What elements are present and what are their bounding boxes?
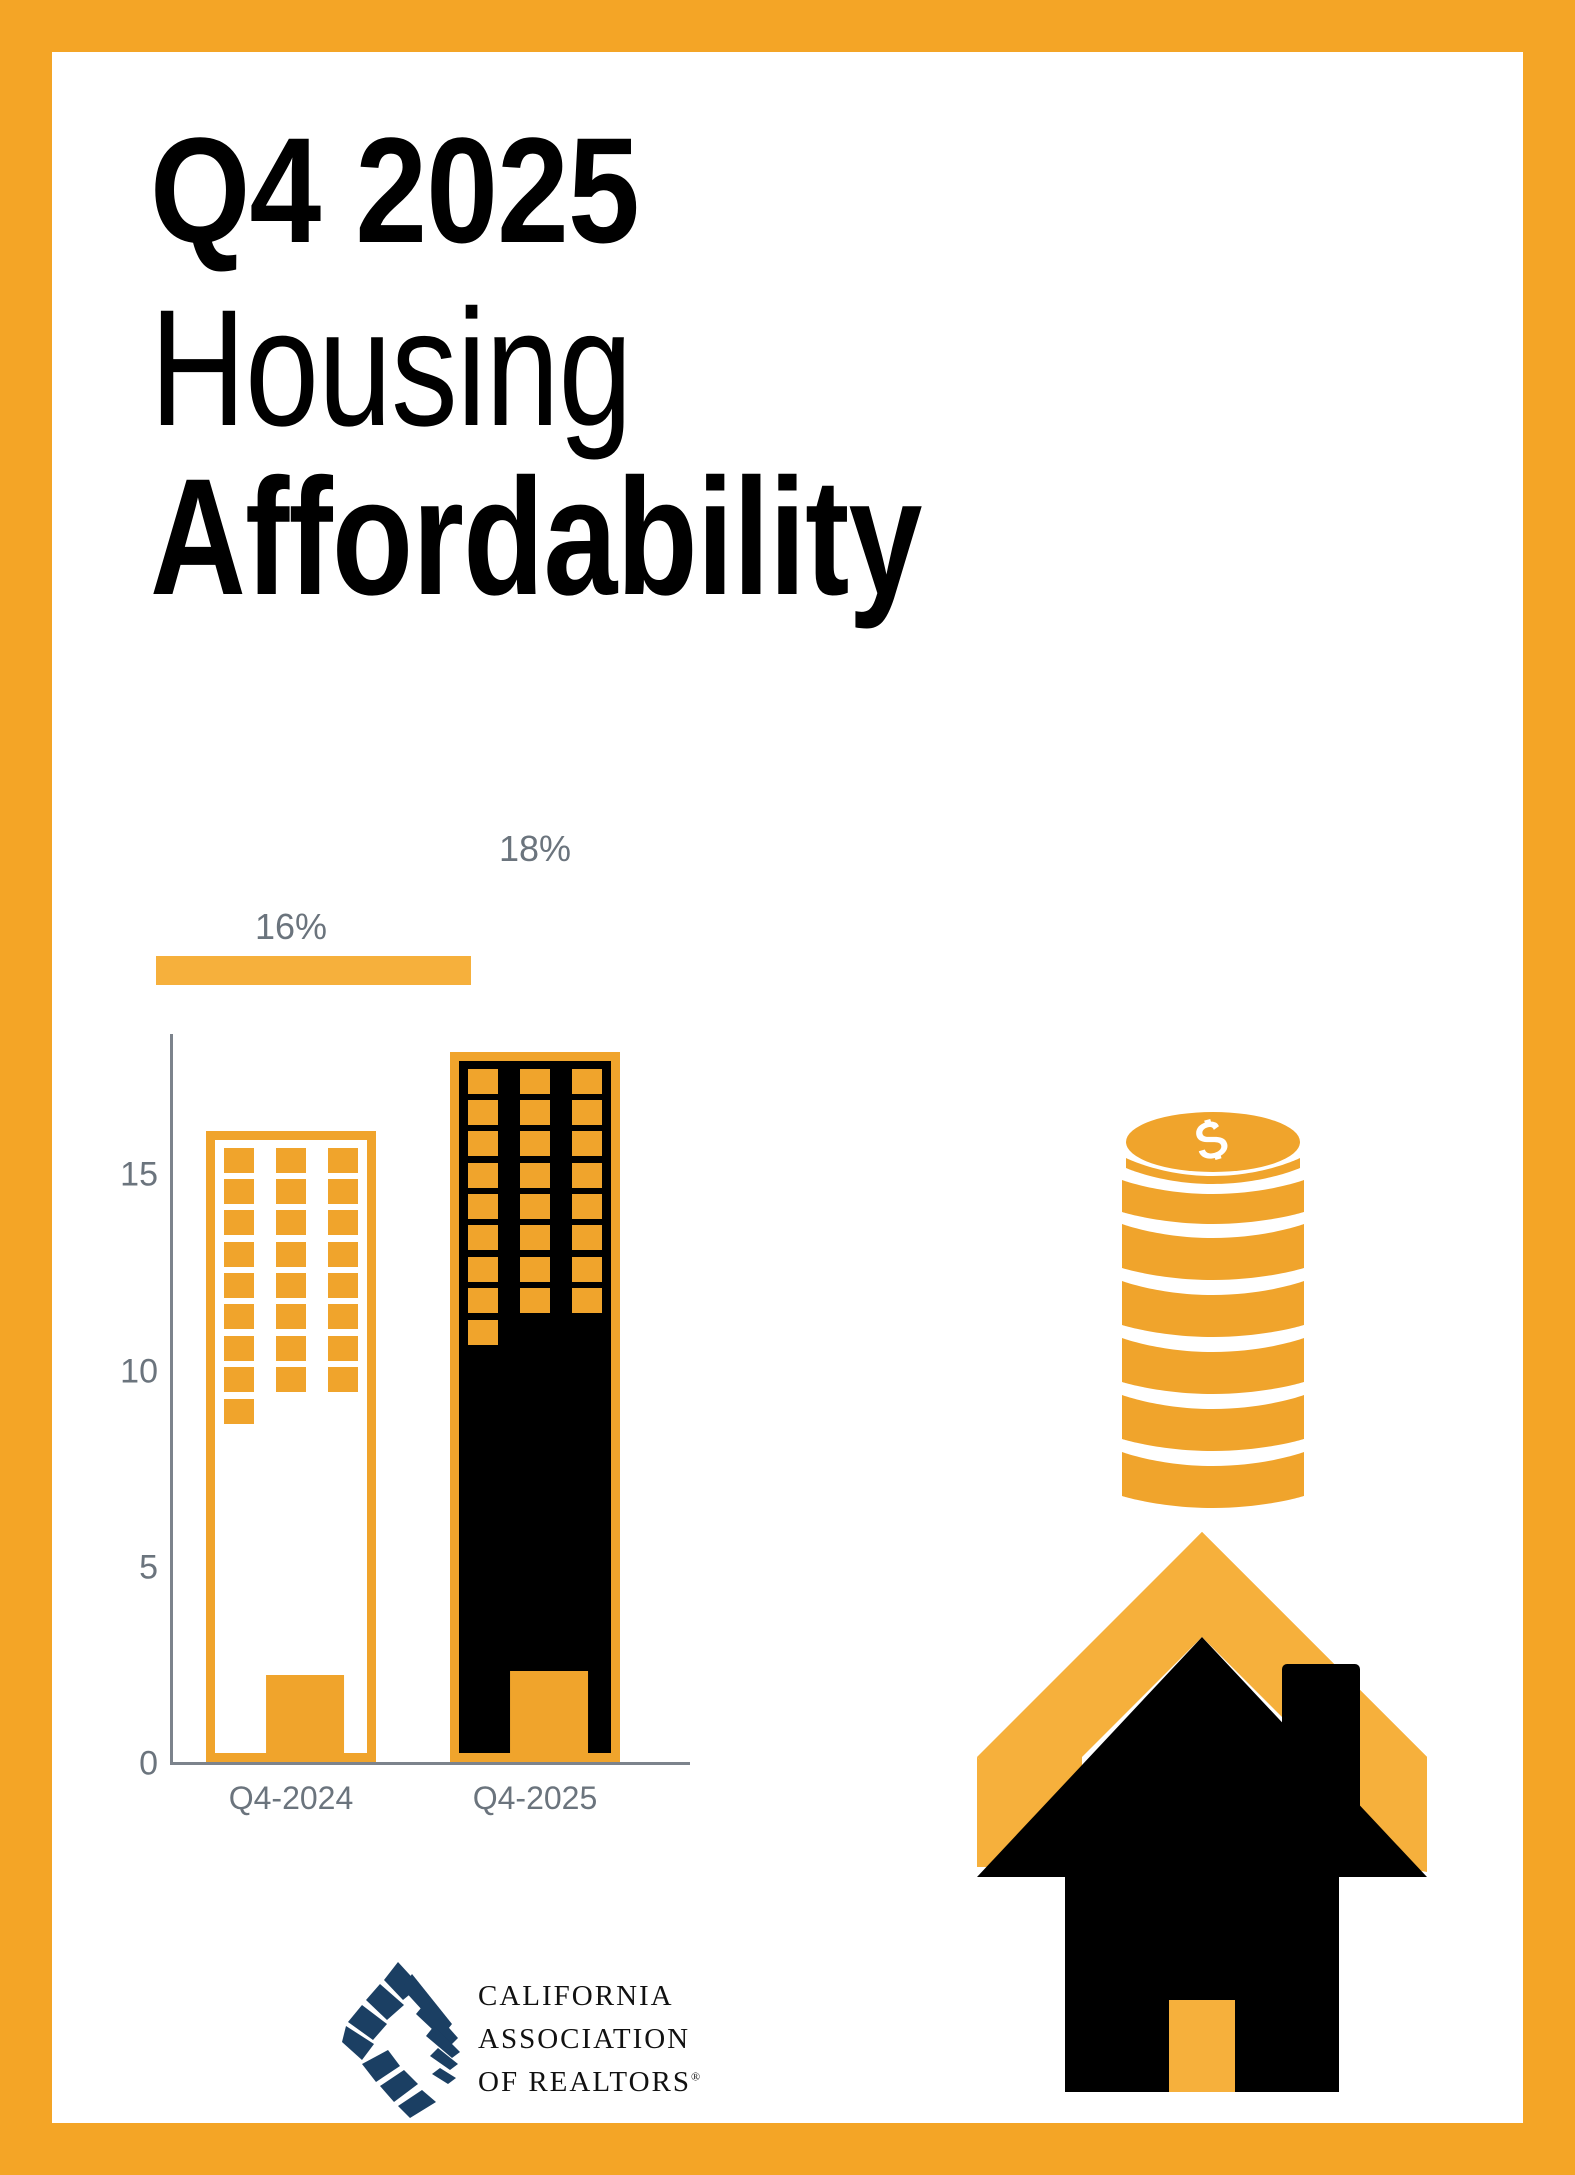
page-title-affordability: Affordability (150, 457, 1190, 620)
car-logo-line2: ASSOCIATION (478, 2018, 700, 2061)
coin-stack-icon (1120, 1100, 1306, 1508)
poster-canvas: Q4 2025 Housing Affordability 0 5 10 15 … (52, 52, 1523, 2123)
bar-q4-2025[interactable] (450, 1052, 620, 1762)
poster-frame: Q4 2025 Housing Affordability 0 5 10 15 … (0, 0, 1575, 2175)
y-tick-5: 5 (92, 1549, 158, 1588)
building-door-q4-2025 (510, 1671, 588, 1753)
page-title-housing: Housing (150, 288, 1190, 451)
bar-q4-2024[interactable] (206, 1131, 376, 1762)
building-windows-q4-2025 (459, 1061, 611, 1753)
registered-mark: ® (691, 2069, 700, 2083)
building-door-q4-2024 (266, 1675, 344, 1753)
title-accent-bar (156, 956, 471, 985)
y-axis-ticks: 0 5 10 15 (82, 1012, 158, 1764)
y-tick-10: 10 (92, 1353, 158, 1392)
plot-area: 16% 18% (170, 1034, 690, 1764)
car-logo-line3: OF REALTORS (478, 2066, 691, 2098)
bar-value-label-q4-2025: 18% (499, 828, 571, 870)
x-tick-q4-2025: Q4-2025 (473, 1780, 598, 1817)
title-block: Q4 2025 Housing Affordability (150, 117, 1450, 619)
house-icon (977, 1532, 1427, 2092)
x-tick-q4-2024: Q4-2024 (229, 1780, 354, 1817)
affordability-bar-chart: 0 5 10 15 16% (82, 1012, 722, 1892)
car-shield-mark (340, 1960, 462, 2120)
bar-value-label-q4-2024: 16% (255, 906, 327, 948)
car-logo-line1: CALIFORNIA (478, 1975, 700, 2018)
car-logo-text: CALIFORNIA ASSOCIATION OF REALTORS® (478, 1975, 700, 2104)
car-logo: CALIFORNIA ASSOCIATION OF REALTORS® (340, 1947, 720, 2132)
y-tick-15: 15 (92, 1156, 158, 1195)
y-tick-0: 0 (92, 1745, 158, 1784)
building-windows-q4-2024 (215, 1140, 367, 1753)
page-title-quarter: Q4 2025 (150, 117, 1268, 264)
